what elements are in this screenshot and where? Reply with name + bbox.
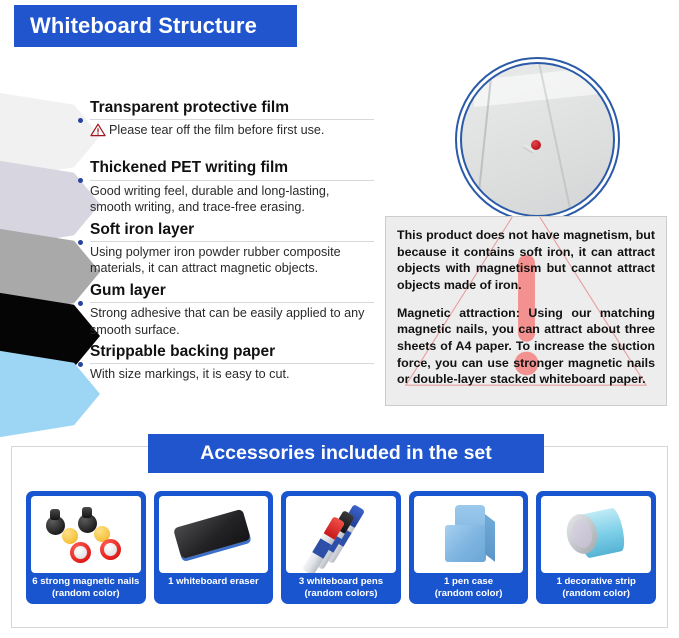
card-label: 1 decorative strip (random color) — [555, 573, 636, 601]
card-label-line-1: 1 pen case — [444, 576, 493, 587]
card-label: 1 pen case (random color) — [434, 573, 504, 601]
layer-heading: Strippable backing paper — [78, 342, 374, 362]
layer-item-pet-film: Thickened PET writing film Good writing … — [78, 158, 374, 215]
layer-description: With size markings, it is easy to cut. — [78, 366, 374, 382]
card-label: 1 whiteboard eraser — [167, 573, 260, 590]
magnetism-note-paragraph-2: Magnetic attraction: Using our matching … — [397, 305, 655, 388]
accessories-title: Accessories included in the set — [200, 442, 492, 465]
layer-bullet-dot — [78, 240, 83, 245]
layer-item-gum: Gum layer Strong adhesive that can be ea… — [78, 281, 374, 338]
layer-description: Strong adhesive that can be easily appli… — [78, 305, 374, 338]
accessories-title-bar: Accessories included in the set — [148, 434, 544, 473]
card-label-line-2: (random colors) — [304, 588, 377, 599]
card-label-line-2: (random color) — [562, 588, 630, 599]
card-label-line-2: (random color) — [52, 588, 120, 599]
layer-description: Please tear off the film before first us… — [109, 122, 324, 138]
layer-item-soft-iron: Soft iron layer Using polymer iron powde… — [78, 220, 374, 277]
card-label-line-2: (random color) — [435, 588, 503, 599]
layer-heading: Gum layer — [78, 281, 374, 301]
card-image-frame — [541, 496, 651, 573]
magnetism-note-box: This product does not have magnetism, bu… — [385, 216, 667, 406]
card-image-frame — [286, 496, 396, 573]
layer-description: Good writing feel, durable and long-last… — [78, 183, 374, 216]
accessory-card-decorative-strip[interactable]: 1 decorative strip (random color) — [536, 491, 656, 604]
layer-divider — [90, 241, 374, 242]
layer-item-protective-film: Transparent protective film Please tear … — [78, 98, 374, 142]
magnetism-note-paragraph-1: This product does not have magnetism, bu… — [397, 227, 655, 294]
whiteboard-pens-icon — [303, 503, 379, 567]
accessory-card-pen-case[interactable]: 1 pen case (random color) — [409, 491, 529, 604]
layer-divider — [90, 363, 374, 364]
pen-case-icon — [442, 505, 496, 565]
magnetic-pin-head-icon — [531, 140, 541, 150]
layer-divider — [90, 119, 374, 120]
layer-description: Using polymer iron powder rubber composi… — [78, 244, 374, 277]
layer-description-list: Transparent protective film Please tear … — [78, 98, 374, 385]
layer-heading: Thickened PET writing film — [78, 158, 374, 178]
card-label-line-1: 1 whiteboard eraser — [168, 576, 259, 587]
layer-divider — [90, 180, 374, 181]
magnetic-nails-icon — [40, 502, 132, 568]
warning-triangle-icon — [90, 123, 106, 142]
page-title: Whiteboard Structure — [30, 13, 257, 39]
whiteboard-eraser-icon — [176, 512, 250, 558]
layer-bullet-dot — [78, 301, 83, 306]
structure-title-bar: Whiteboard Structure — [14, 5, 297, 47]
card-label-line-1: 3 whiteboard pens — [299, 576, 383, 587]
accessories-section: 6 strong magnetic nails (random color) 1… — [11, 446, 668, 628]
accessory-card-whiteboard-pens[interactable]: 3 whiteboard pens (random colors) — [281, 491, 401, 604]
decorative-tape-roll-icon — [565, 509, 627, 561]
layer-item-backing-paper: Strippable backing paper With size marki… — [78, 342, 374, 383]
card-label-line-1: 6 strong magnetic nails — [32, 576, 139, 587]
card-label: 3 whiteboard pens (random colors) — [298, 573, 384, 601]
card-image-frame — [159, 496, 269, 573]
layer-heading: Soft iron layer — [78, 220, 374, 240]
layer-heading: Transparent protective film — [78, 98, 374, 118]
photo-inner — [460, 62, 615, 217]
card-image-frame — [31, 496, 141, 573]
card-label: 6 strong magnetic nails (random color) — [31, 573, 140, 601]
card-label-line-1: 1 decorative strip — [556, 576, 635, 587]
accessory-card-list: 6 strong magnetic nails (random color) 1… — [26, 491, 656, 604]
layer-bullet-dot — [78, 118, 83, 123]
card-image-frame — [414, 496, 524, 573]
layer-bullet-dot — [78, 362, 83, 367]
layer-divider — [90, 302, 374, 303]
accessory-card-magnetic-nails[interactable]: 6 strong magnetic nails (random color) — [26, 491, 146, 604]
whiteboard-sheet-with-magnetic-pin-photo — [455, 57, 620, 222]
accessory-card-whiteboard-eraser[interactable]: 1 whiteboard eraser — [154, 491, 274, 604]
